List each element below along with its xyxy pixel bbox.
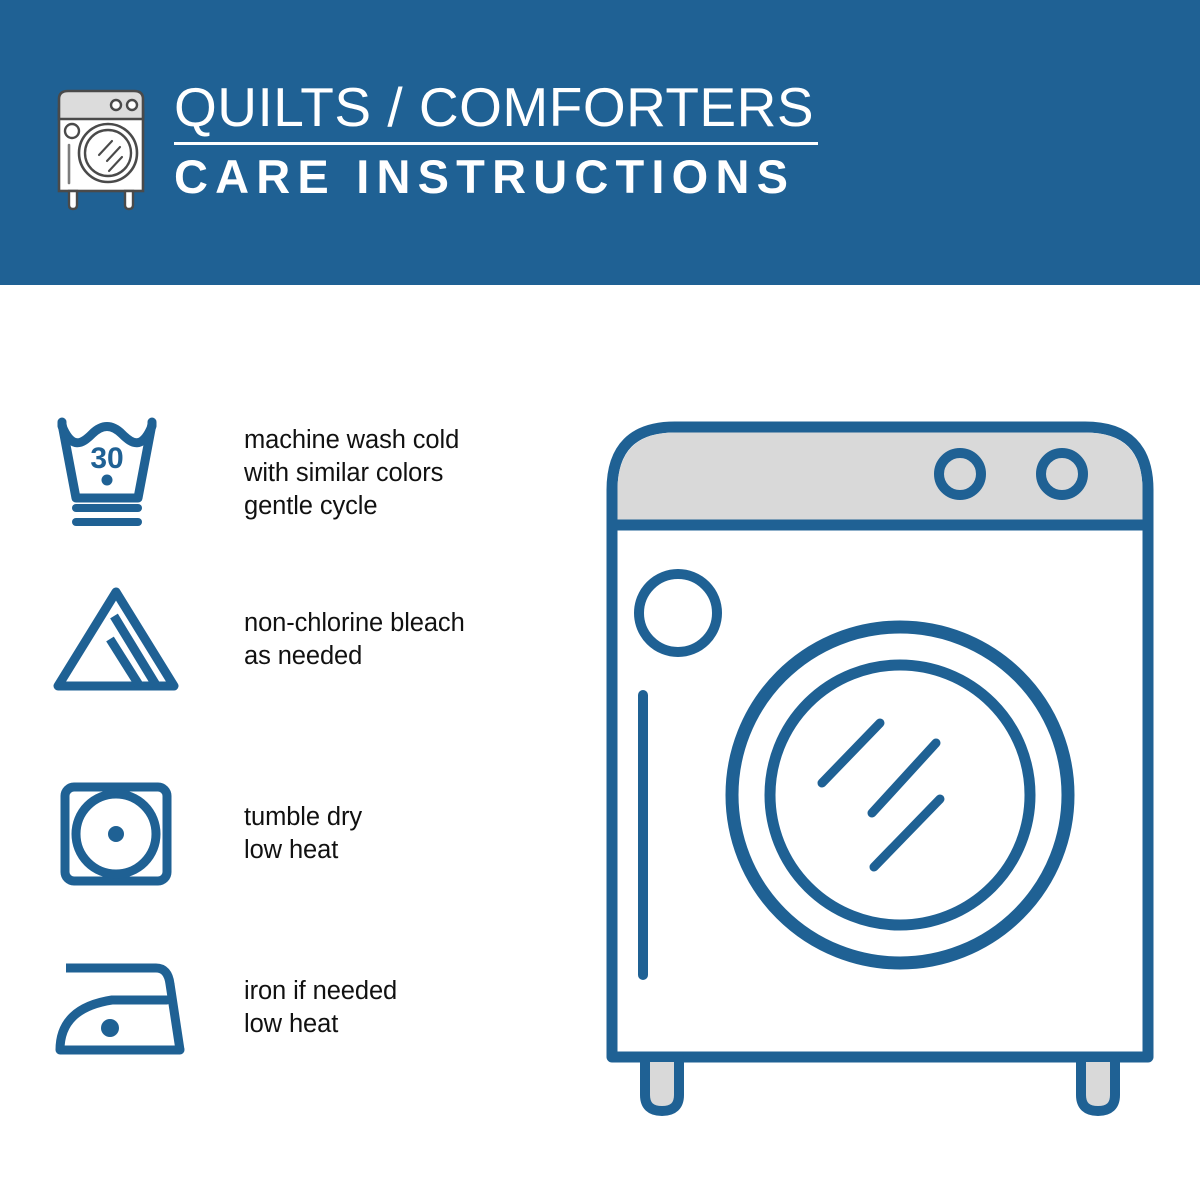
wash-basin-30-gentle-icon: 30 bbox=[52, 410, 202, 528]
tumble-dry-low-heat-icon bbox=[52, 775, 202, 893]
care-symbol-row: tumble dry low heat bbox=[0, 775, 560, 893]
leg-left bbox=[645, 1057, 679, 1111]
care-symbol-label-line: low heat bbox=[244, 834, 362, 867]
iron-low-heat-icon bbox=[52, 950, 202, 1068]
care-symbol-label-line: machine wash cold bbox=[244, 424, 459, 457]
page-title: QUILTS / COMFORTERS bbox=[174, 78, 818, 136]
care-symbol-label-line: non-chlorine bleach bbox=[244, 607, 465, 640]
care-symbol-label: tumble dry low heat bbox=[244, 775, 362, 867]
care-symbol-row: iron if needed low heat bbox=[0, 950, 560, 1068]
care-symbol-label-line: as needed bbox=[244, 640, 465, 673]
title-divider bbox=[174, 142, 818, 145]
wash-temperature-value: 30 bbox=[90, 442, 123, 475]
header-title-group: QUILTS / COMFORTERS CARE INSTRUCTIONS bbox=[174, 78, 818, 203]
detergent-port[interactable] bbox=[639, 574, 717, 652]
care-symbol-label: non-chlorine bleach as needed bbox=[244, 582, 465, 673]
knob-right[interactable] bbox=[1041, 453, 1083, 495]
door-inner-ring[interactable] bbox=[770, 665, 1030, 925]
washing-machine-icon bbox=[52, 81, 156, 213]
care-symbol-label-line: low heat bbox=[244, 1008, 397, 1041]
header-content: QUILTS / COMFORTERS CARE INSTRUCTIONS bbox=[52, 78, 818, 213]
care-symbol-label-line: iron if needed bbox=[244, 975, 397, 1008]
care-symbol-row: 30 machine wash cold with similar colors… bbox=[0, 410, 560, 528]
care-symbol-label-line: gentle cycle bbox=[244, 490, 459, 523]
care-symbol-label: machine wash cold with similar colors ge… bbox=[244, 410, 459, 523]
page-subtitle: CARE INSTRUCTIONS bbox=[174, 151, 818, 203]
non-chlorine-bleach-triangle-icon bbox=[52, 582, 202, 700]
care-symbol-label: iron if needed low heat bbox=[244, 950, 397, 1041]
knob-left[interactable] bbox=[939, 453, 981, 495]
header-banner: QUILTS / COMFORTERS CARE INSTRUCTIONS bbox=[0, 0, 1200, 285]
leg-right bbox=[1081, 1057, 1115, 1111]
care-symbol-label-line: with similar colors bbox=[244, 457, 459, 490]
front-load-washing-machine-illustration bbox=[600, 405, 1160, 1125]
care-symbol-row: non-chlorine bleach as needed bbox=[0, 582, 560, 700]
care-symbol-label-line: tumble dry bbox=[244, 801, 362, 834]
